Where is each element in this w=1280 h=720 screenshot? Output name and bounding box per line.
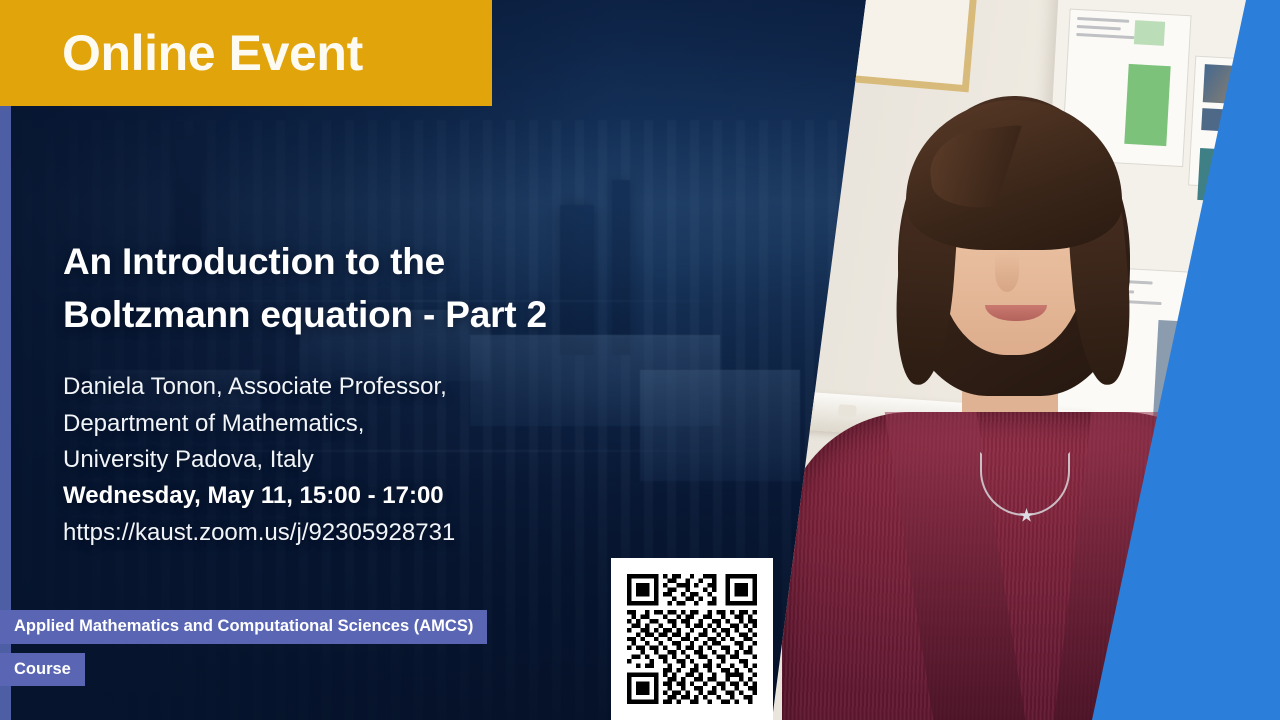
speaker-name-role: Daniela Tonon, Associate Professor, — [63, 369, 763, 405]
event-poster: Online Event An Introduction to the Bolt… — [0, 0, 1280, 720]
event-title: An Introduction to the Boltzmann equatio… — [63, 236, 763, 341]
tag-list: Applied Mathematics and Computational Sc… — [0, 610, 487, 686]
speaker-info: Daniela Tonon, Associate Professor, Depa… — [63, 369, 763, 551]
event-datetime: Wednesday, May 11, 15:00 - 17:00 — [63, 478, 763, 514]
event-title-line-2: Boltzmann equation - Part 2 — [63, 289, 763, 342]
tag-program[interactable]: Applied Mathematics and Computational Sc… — [0, 610, 487, 643]
qr-code-icon — [627, 574, 757, 704]
online-event-banner: Online Event — [0, 0, 492, 106]
event-zoom-link[interactable]: https://kaust.zoom.us/j/92305928731 — [63, 515, 763, 551]
qr-code-panel[interactable] — [611, 558, 773, 720]
tag-type[interactable]: Course — [0, 653, 85, 686]
event-title-line-1: An Introduction to the — [63, 236, 763, 289]
speaker-department: Department of Mathematics, — [63, 406, 763, 442]
tag-row-program: Applied Mathematics and Computational Sc… — [0, 610, 487, 652]
online-event-label: Online Event — [62, 28, 363, 78]
nose — [995, 252, 1019, 292]
event-details: An Introduction to the Boltzmann equatio… — [63, 236, 763, 551]
speaker-affiliation: University Padova, Italy — [63, 442, 763, 478]
tag-row-type: Course — [0, 653, 487, 686]
